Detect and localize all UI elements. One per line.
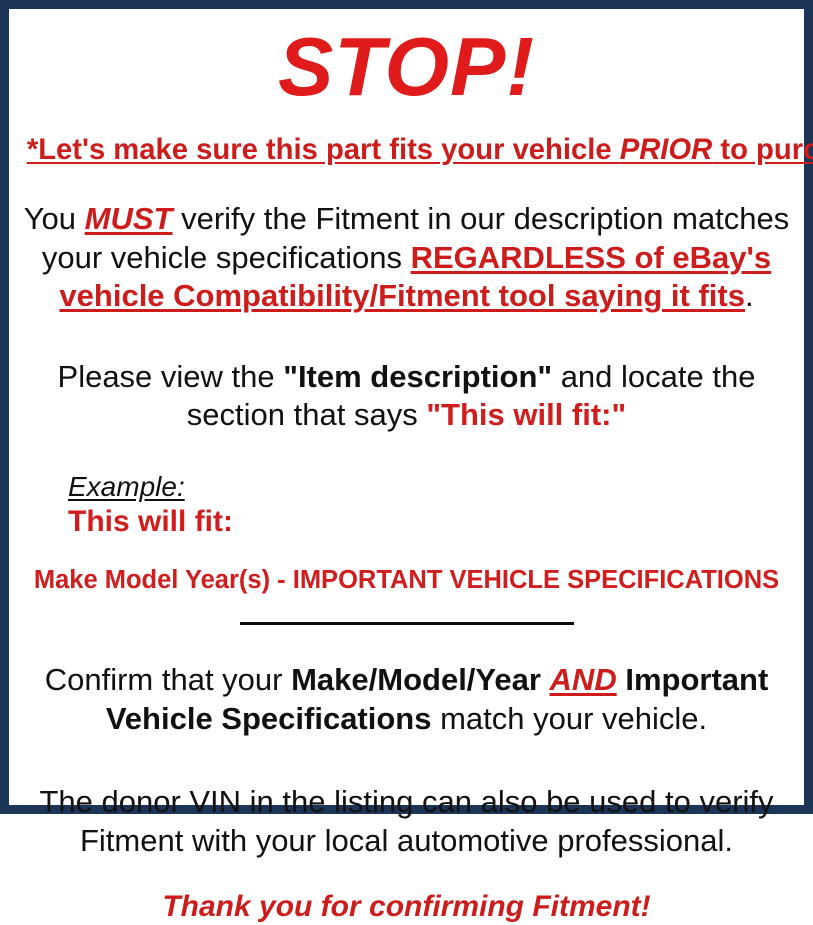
- subtitle-lead: *Let's make sure this part fits your veh…: [27, 133, 620, 166]
- this-will-fit-quote: "This will fit:": [426, 397, 626, 432]
- subtitle-banner: *Let's make sure this part fits your veh…: [27, 134, 786, 166]
- paragraph-confirm: Confirm that your Make/Model/Year AND Im…: [23, 661, 790, 738]
- example-block: Example: This will fit:: [23, 471, 790, 540]
- confirm-seg1: Confirm that your: [45, 662, 291, 697]
- subtitle-tail: to purchasing*: [712, 133, 813, 166]
- paragraph-donor-vin: The donor VIN in the listing can also be…: [23, 783, 790, 860]
- example-spec-line: Make Model Year(s) - IMPORTANT VEHICLE S…: [23, 566, 790, 594]
- fitment-notice-card: STOP! *Let's make sure this part fits yo…: [0, 0, 813, 814]
- confirm-seg2: match your vehicle.: [431, 701, 707, 736]
- example-label: Example:: [68, 471, 185, 503]
- example-this-will-fit: This will fit:: [68, 504, 790, 539]
- please-seg1: Please view the: [58, 359, 284, 394]
- and-emphasis: AND: [550, 662, 617, 697]
- paragraph-item-description: Please view the "Item description" and l…: [23, 358, 790, 435]
- must-seg1: You: [24, 201, 85, 236]
- subtitle-emphasis: PRIOR: [620, 133, 713, 166]
- must-seg3: .: [745, 278, 754, 313]
- horizontal-divider: [240, 622, 574, 625]
- divider-wrap: [23, 622, 790, 625]
- item-description-label: "Item description": [283, 359, 552, 394]
- thanks-line: Thank you for confirming Fitment!: [23, 890, 790, 925]
- example-label-row: Example:: [68, 471, 790, 503]
- paragraph-must-verify: You MUST verify the Fitment in our descr…: [23, 200, 790, 315]
- must-emphasis: MUST: [85, 201, 173, 236]
- confirm-make-model-year: Make/Model/Year: [291, 662, 549, 697]
- page-title: STOP!: [23, 25, 790, 108]
